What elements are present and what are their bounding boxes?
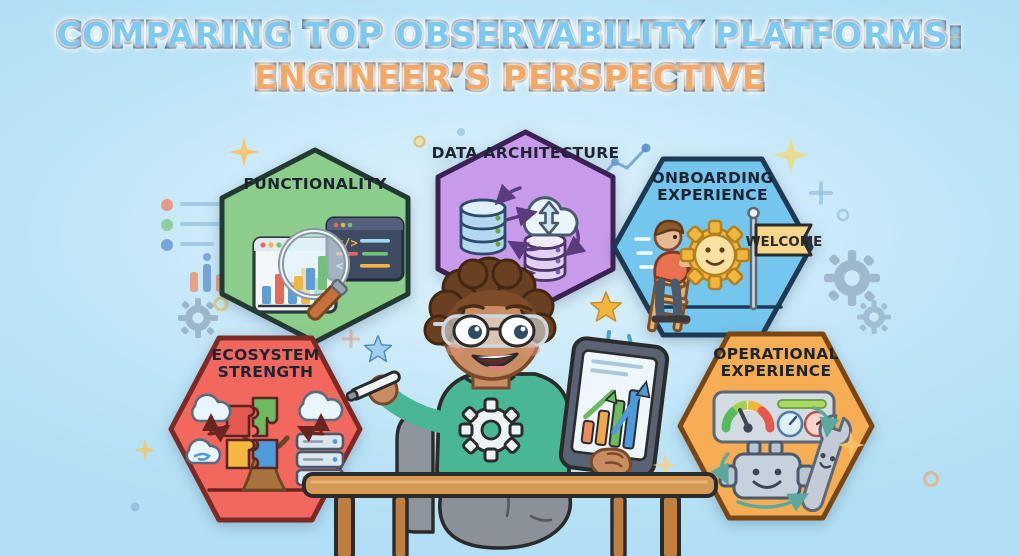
title-line-1: COMPARING TOP OBSERVABILITY PLATFORMS: [0, 18, 1020, 53]
small-circle-icon [922, 470, 940, 488]
desk [300, 470, 720, 556]
gear-icon [857, 300, 891, 334]
infographic-canvas: COMPARING TOP OBSERVABILITY PLATFORMS: E… [0, 0, 1020, 556]
title-line-2: ENGINEER’S PERSPECTIVE [0, 61, 1020, 96]
poster-title: COMPARING TOP OBSERVABILITY PLATFORMS: E… [0, 18, 1020, 96]
small-circle-icon [836, 208, 850, 222]
gear-icon [824, 250, 880, 306]
small-circle-icon [128, 500, 142, 514]
sparkle-star-icon [836, 430, 866, 460]
welcome-flag-text: WELCOME [746, 234, 823, 250]
sparkle-star-icon [133, 438, 157, 462]
